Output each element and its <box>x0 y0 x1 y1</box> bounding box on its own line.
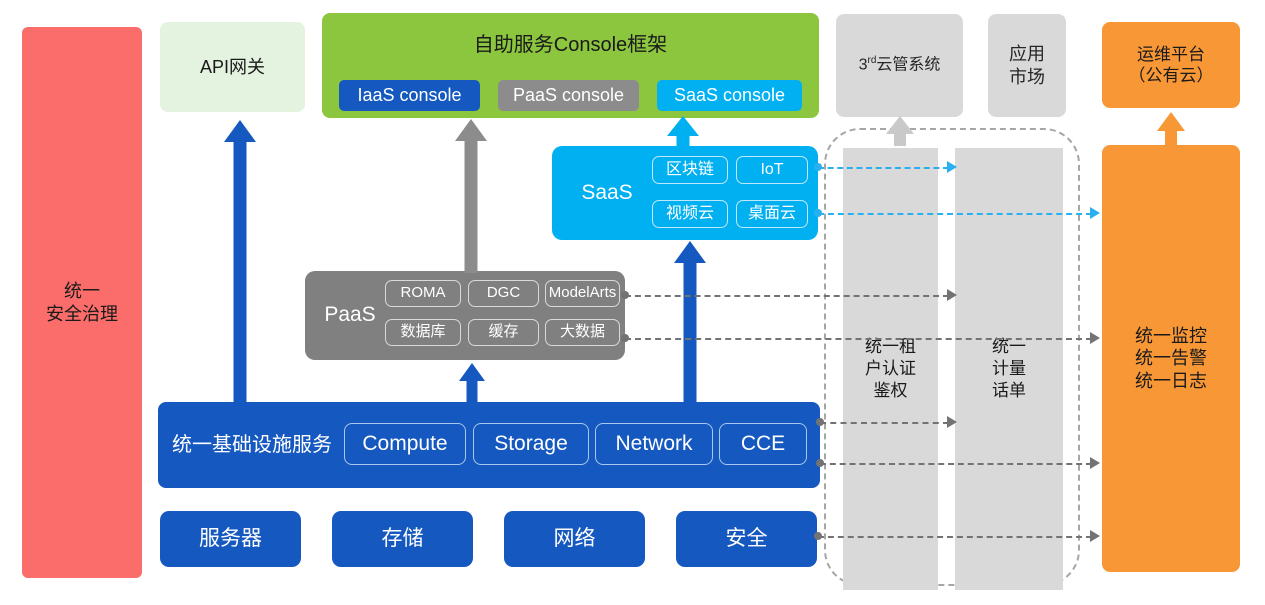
paas-chip-dgc[interactable]: DGC <box>468 280 539 307</box>
connector-arrowhead-paas-auth <box>947 289 957 301</box>
arrow-infra-to-paas <box>459 363 485 404</box>
connector-arrowhead-infra-ops <box>1090 457 1100 469</box>
hardware-box-security: 安全 <box>676 511 817 567</box>
hardware-box-server: 服务器 <box>160 511 301 567</box>
paas-chip-roma[interactable]: ROMA <box>385 280 461 307</box>
paas-chip-modelarts[interactable]: ModelArts <box>545 280 620 307</box>
connector-arrowhead-hardware-ops <box>1090 530 1100 542</box>
connector-arrowhead-paas-ops <box>1090 332 1100 344</box>
connector-arrowhead-saas-ops <box>1090 207 1100 219</box>
console-frame-title: 自助服务Console框架 <box>322 33 819 58</box>
third-party-label: 3rd云管系统 <box>859 55 941 75</box>
api-gateway-box: API网关 <box>160 22 305 112</box>
connector-paas-to-tenant-auth <box>625 295 949 297</box>
unified-security-governance-panel: 统一 安全治理 <box>22 27 142 578</box>
saas-chip-blockchain[interactable]: 区块链 <box>652 156 728 184</box>
connector-saas-to-ops <box>818 213 1092 215</box>
arrow-saas-to-console <box>667 116 699 148</box>
unified-monitoring-column: 统一监控 统一告警 统一日志 <box>1102 145 1240 572</box>
infra-chip-storage[interactable]: Storage <box>473 423 589 465</box>
infra-chip-cce[interactable]: CCE <box>719 423 807 465</box>
paas-console-chip[interactable]: PaaS console <box>498 80 639 111</box>
ops-platform-public-cloud-box: 运维平台 （公有云） <box>1102 22 1240 108</box>
connector-hardware-to-ops <box>818 536 1092 538</box>
connector-infra-to-tenant-auth <box>820 422 949 424</box>
paas-layer-label: PaaS <box>315 271 385 360</box>
paas-chip-cache[interactable]: 缓存 <box>468 319 539 346</box>
connector-saas-to-tenant-auth <box>818 167 949 169</box>
iaas-console-chip[interactable]: IaaS console <box>339 80 480 111</box>
arrow-infra-to-saas <box>674 241 706 404</box>
paas-chip-bigdata[interactable]: 大数据 <box>545 319 620 346</box>
unified-infrastructure-label: 统一基础设施服务 <box>172 402 332 488</box>
connector-arrowhead-saas-auth <box>947 161 957 173</box>
app-market-box: 应用 市场 <box>988 14 1066 117</box>
architecture-diagram: 统一 安全治理 API网关 自助服务Console框架 IaaS console… <box>0 0 1265 605</box>
saas-layer-box: SaaS 区块链 IoT 视频云 桌面云 <box>552 146 818 240</box>
hardware-box-network: 网络 <box>504 511 645 567</box>
saas-chip-iot[interactable]: IoT <box>736 156 808 184</box>
connector-paas-to-ops <box>625 338 1092 340</box>
saas-console-chip[interactable]: SaaS console <box>657 80 802 111</box>
paas-layer-box: PaaS ROMA DGC ModelArts 数据库 缓存 大数据 <box>305 271 625 360</box>
arrow-shared-services-to-third-party <box>886 116 914 146</box>
unified-infrastructure-bar: 统一基础设施服务 Compute Storage Network CCE <box>158 402 820 488</box>
saas-layer-label: SaaS <box>564 146 650 240</box>
arrow-ops-column-to-ops-top <box>1157 112 1185 146</box>
connector-infra-to-ops <box>820 463 1092 465</box>
paas-chip-database[interactable]: 数据库 <box>385 319 461 346</box>
connector-arrowhead-infra-auth <box>947 416 957 428</box>
saas-chip-video-cloud[interactable]: 视频云 <box>652 200 728 228</box>
third-party-cloud-management-box: 3rd云管系统 <box>836 14 963 117</box>
self-service-console-frame: 自助服务Console框架 IaaS console PaaS console … <box>322 13 819 118</box>
hardware-box-storage: 存储 <box>332 511 473 567</box>
saas-chip-desktop-cloud[interactable]: 桌面云 <box>736 200 808 228</box>
arrow-paas-to-console <box>455 119 487 273</box>
arrow-infra-to-api-gateway <box>224 120 256 404</box>
infra-chip-compute[interactable]: Compute <box>344 423 466 465</box>
infra-chip-network[interactable]: Network <box>595 423 713 465</box>
